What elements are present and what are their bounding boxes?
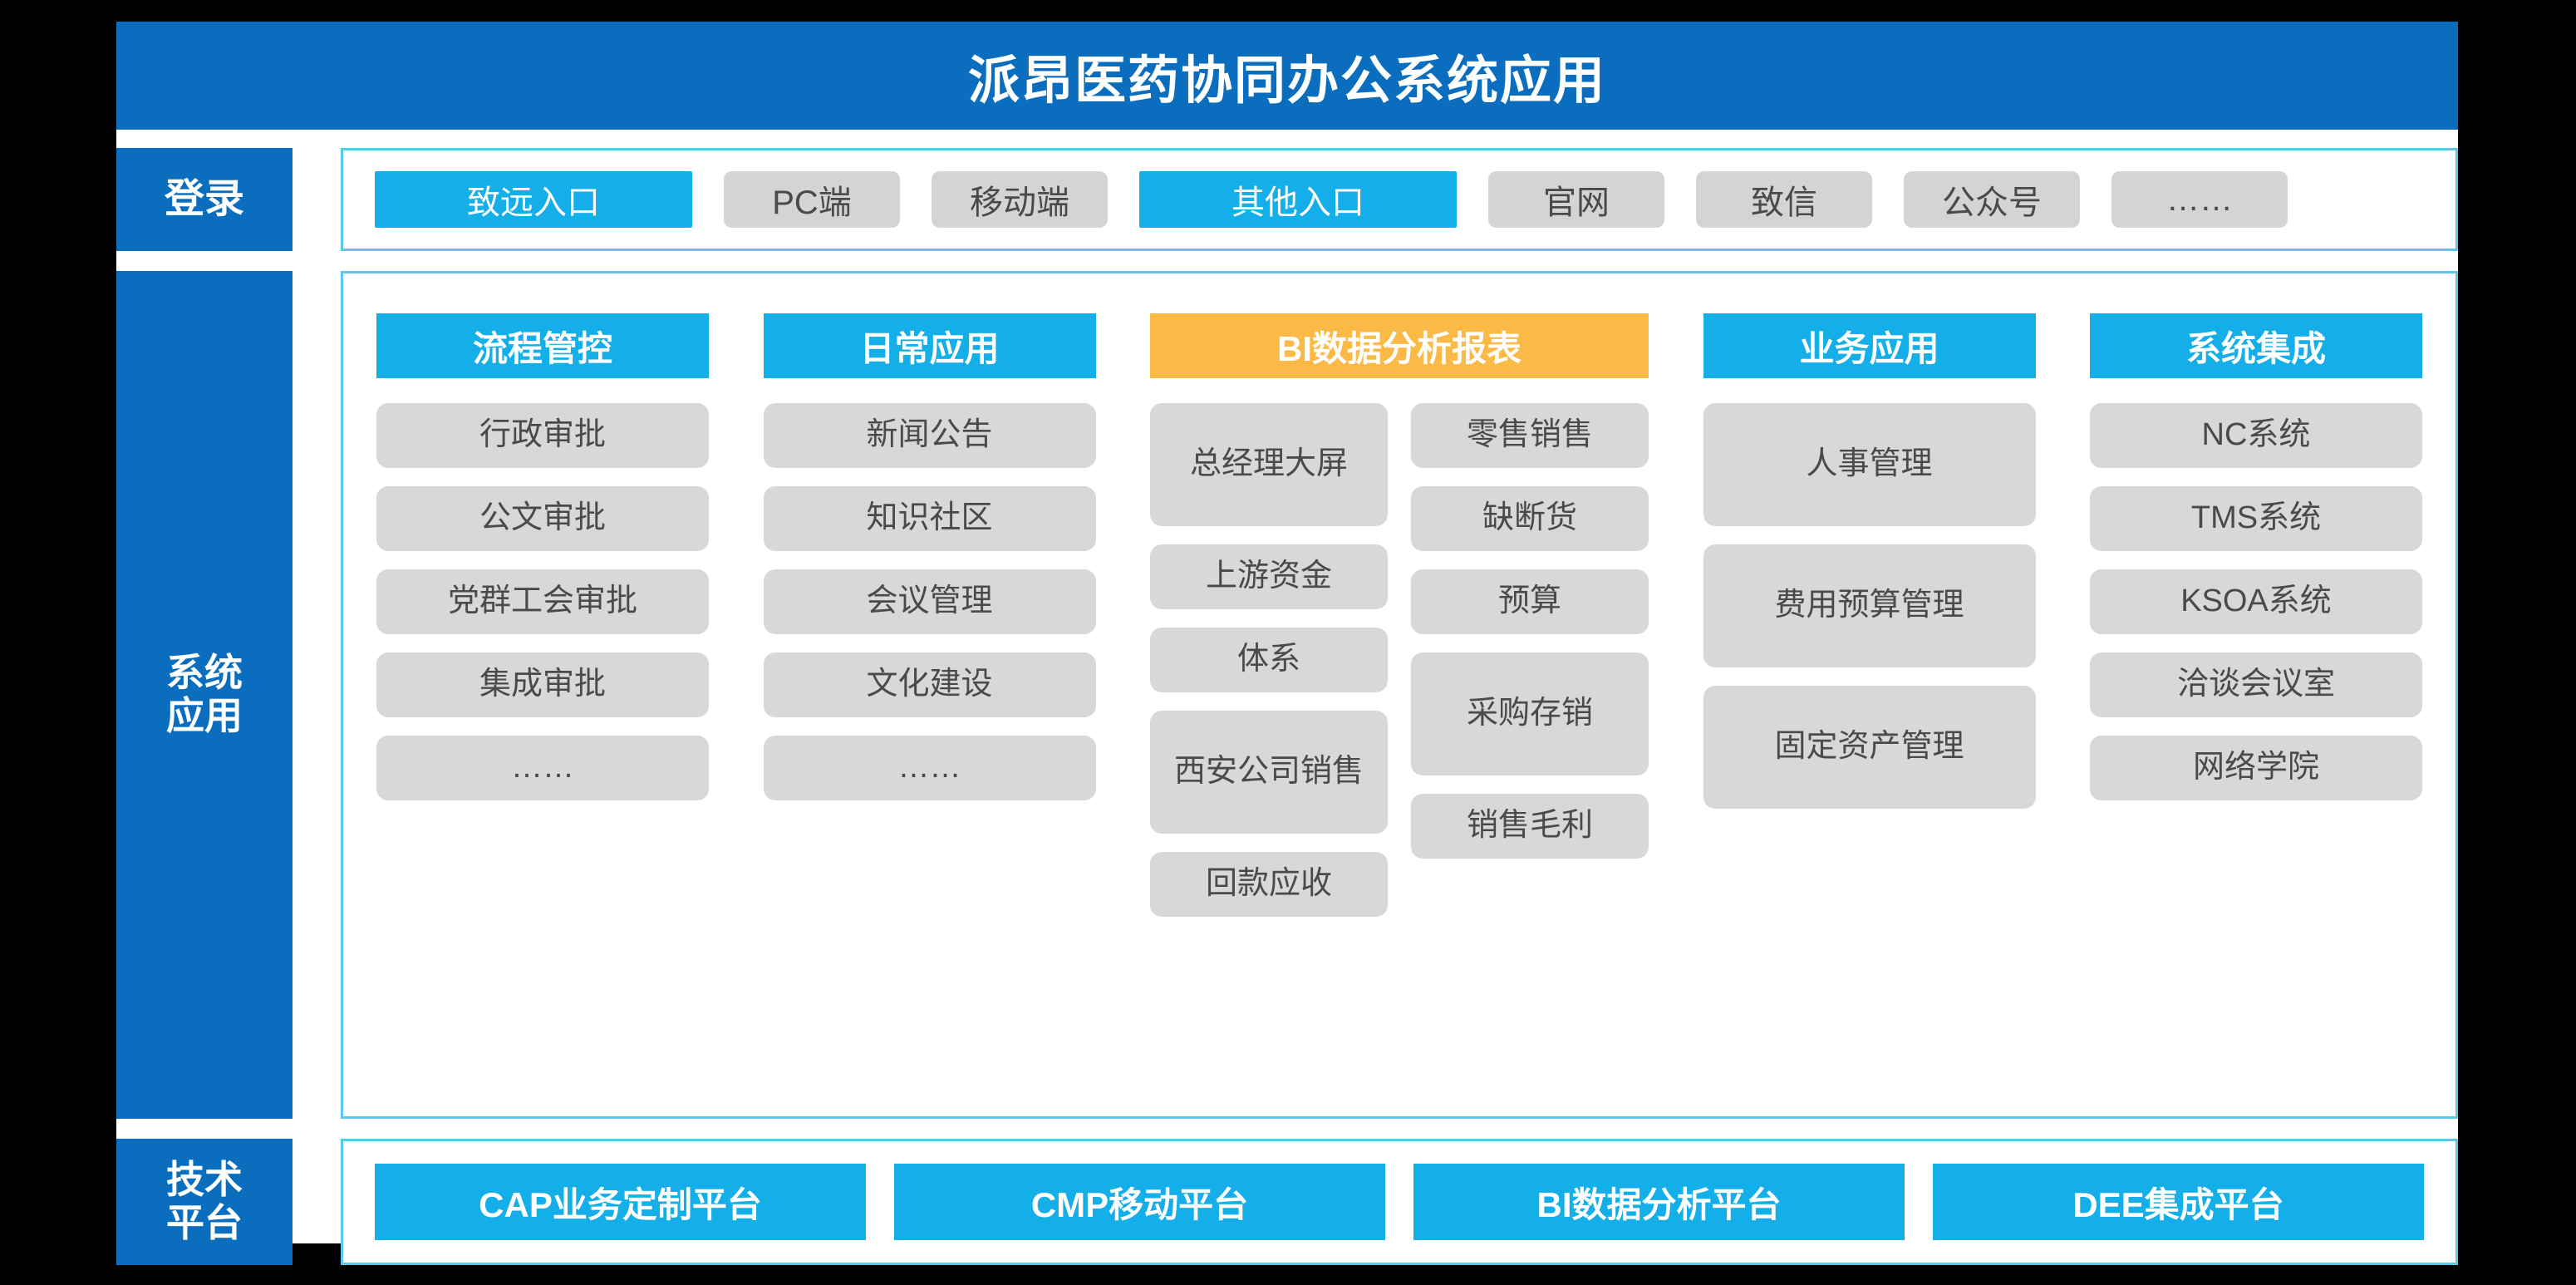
- item-process-more[interactable]: ……: [376, 736, 709, 800]
- login-chip-public-account[interactable]: 公众号: [1904, 171, 2080, 228]
- login-row: 登录 致远入口 PC端 移动端 其他入口 官网 致信 公众号 ……: [116, 148, 2458, 251]
- login-chip-mobile[interactable]: 移动端: [932, 171, 1108, 228]
- tech-platform-row: 技术 平台 CAP业务定制平台 CMP移动平台 BI数据分析平台 DEE集成平台: [116, 1139, 2458, 1265]
- system-columns: 流程管控 行政审批 公文审批 党群工会审批 集成审批 …… 日常应用: [376, 313, 2422, 917]
- column-process-control: 流程管控 行政审批 公文审批 党群工会审批 集成审批 ……: [376, 313, 709, 800]
- system-application-row-label: 系统 应用: [116, 271, 293, 1119]
- item-nc-system[interactable]: NC系统: [2090, 403, 2422, 468]
- column-system-integration: 系统集成 NC系统 TMS系统 KSOA系统 洽谈会议室 网络学院: [2090, 313, 2422, 800]
- item-fixed-asset-management[interactable]: 固定资产管理: [1703, 686, 2036, 809]
- column-items-bi-reports: 总经理大屏 上游资金 体系 西安公司销售 回款应收 零售销售 缺断货 预算 采购…: [1150, 403, 1649, 917]
- column-header-system-integration[interactable]: 系统集成: [2090, 313, 2422, 378]
- item-xian-company-sales[interactable]: 西安公司销售: [1150, 711, 1388, 834]
- login-chip-group: 致远入口 PC端 移动端 其他入口 官网 致信 公众号 ……: [375, 171, 2288, 228]
- column-daily-application: 日常应用 新闻公告 知识社区 会议管理 文化建设 ……: [764, 313, 1096, 800]
- column-business-application: 业务应用 人事管理 费用预算管理 固定资产管理: [1703, 313, 2036, 809]
- login-chip-official-site[interactable]: 官网: [1488, 171, 1664, 228]
- item-stockout[interactable]: 缺断货: [1411, 486, 1649, 551]
- login-chip-pc[interactable]: PC端: [724, 171, 900, 228]
- login-chip-zhiyuan-entry[interactable]: 致远入口: [375, 171, 692, 228]
- item-daily-more[interactable]: ……: [764, 736, 1096, 800]
- column-header-daily-application[interactable]: 日常应用: [764, 313, 1096, 378]
- platform-dee[interactable]: DEE集成平台: [1933, 1164, 2424, 1240]
- column-items-business-application: 人事管理 费用预算管理 固定资产管理: [1703, 403, 2036, 809]
- item-sales-gross-profit[interactable]: 销售毛利: [1411, 794, 1649, 859]
- system-label-line2: 应用: [166, 695, 243, 738]
- diagram-canvas: 派昂医药协同办公系统应用 登录 致远入口 PC端 移动端 其他入口 官网 致信 …: [0, 0, 2576, 1285]
- bi-subcolumn-left: 总经理大屏 上游资金 体系 西安公司销售 回款应收: [1150, 403, 1388, 917]
- item-culture-building[interactable]: 文化建设: [764, 652, 1096, 717]
- item-knowledge-community[interactable]: 知识社区: [764, 486, 1096, 551]
- column-header-bi-reports[interactable]: BI数据分析报表: [1150, 313, 1649, 378]
- item-news-announcement[interactable]: 新闻公告: [764, 403, 1096, 468]
- tech-label-line1: 技术: [166, 1159, 243, 1202]
- item-meeting-management[interactable]: 会议管理: [764, 569, 1096, 634]
- item-integration-approval[interactable]: 集成审批: [376, 652, 709, 717]
- login-row-label: 登录: [116, 148, 293, 251]
- platform-bi[interactable]: BI数据分析平台: [1413, 1164, 1905, 1240]
- page-title-banner: 派昂医药协同办公系统应用: [116, 22, 2458, 130]
- system-label-line1: 系统: [166, 652, 243, 695]
- item-document-approval[interactable]: 公文审批: [376, 486, 709, 551]
- item-tms-system[interactable]: TMS系统: [2090, 486, 2422, 551]
- diagram-sheet: 派昂医药协同办公系统应用 登录 致远入口 PC端 移动端 其他入口 官网 致信 …: [116, 22, 2458, 1243]
- item-receivables[interactable]: 回款应收: [1150, 852, 1388, 917]
- item-system-framework[interactable]: 体系: [1150, 628, 1388, 692]
- tech-label-line2: 平台: [166, 1202, 243, 1245]
- tech-platform-panel: CAP业务定制平台 CMP移动平台 BI数据分析平台 DEE集成平台: [341, 1139, 2458, 1265]
- tech-platform-group: CAP业务定制平台 CMP移动平台 BI数据分析平台 DEE集成平台: [375, 1164, 2424, 1240]
- item-expense-budget-management[interactable]: 费用预算管理: [1703, 544, 2036, 667]
- column-header-business-application[interactable]: 业务应用: [1703, 313, 2036, 378]
- column-items-daily-application: 新闻公告 知识社区 会议管理 文化建设 ……: [764, 403, 1096, 800]
- item-budget[interactable]: 预算: [1411, 569, 1649, 634]
- item-administrative-approval[interactable]: 行政审批: [376, 403, 709, 468]
- item-hr-management[interactable]: 人事管理: [1703, 403, 2036, 526]
- login-chip-zhixin[interactable]: 致信: [1696, 171, 1872, 228]
- login-chip-more[interactable]: ……: [2111, 171, 2288, 228]
- item-party-union-approval[interactable]: 党群工会审批: [376, 569, 709, 634]
- item-retail-sales[interactable]: 零售销售: [1411, 403, 1649, 468]
- tech-platform-row-label: 技术 平台: [116, 1139, 293, 1265]
- column-items-process-control: 行政审批 公文审批 党群工会审批 集成审批 ……: [376, 403, 709, 800]
- login-panel: 致远入口 PC端 移动端 其他入口 官网 致信 公众号 ……: [341, 148, 2458, 251]
- item-online-academy[interactable]: 网络学院: [2090, 736, 2422, 800]
- column-header-process-control[interactable]: 流程管控: [376, 313, 709, 378]
- login-chip-other-entry[interactable]: 其他入口: [1139, 171, 1457, 228]
- system-application-panel: 流程管控 行政审批 公文审批 党群工会审批 集成审批 …… 日常应用: [341, 271, 2458, 1119]
- item-ksoa-system[interactable]: KSOA系统: [2090, 569, 2422, 634]
- item-purchase-inventory-sales[interactable]: 采购存销: [1411, 652, 1649, 775]
- item-upstream-funds[interactable]: 上游资金: [1150, 544, 1388, 609]
- column-bi-reports: BI数据分析报表 总经理大屏 上游资金 体系 西安公司销售 回款应收 零售销售: [1150, 313, 1649, 917]
- bi-subcolumn-right: 零售销售 缺断货 预算 采购存销 销售毛利: [1411, 403, 1649, 917]
- item-negotiation-room[interactable]: 洽谈会议室: [2090, 652, 2422, 717]
- page-title: 派昂医药协同办公系统应用: [968, 38, 1606, 113]
- platform-cap[interactable]: CAP业务定制平台: [375, 1164, 866, 1240]
- platform-cmp[interactable]: CMP移动平台: [894, 1164, 1385, 1240]
- column-items-system-integration: NC系统 TMS系统 KSOA系统 洽谈会议室 网络学院: [2090, 403, 2422, 800]
- item-gm-dashboard[interactable]: 总经理大屏: [1150, 403, 1388, 526]
- system-application-row: 系统 应用 流程管控 行政审批 公文审批 党群工会审批 集成审批 ……: [116, 271, 2458, 1119]
